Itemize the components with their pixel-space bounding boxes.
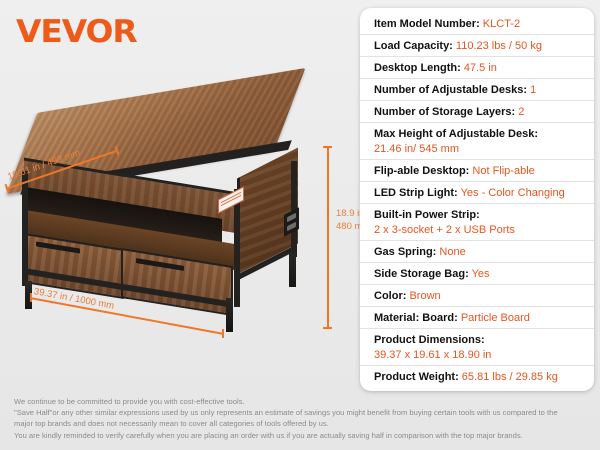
spec-row: Item Model Number: KLCT-2 <box>360 13 594 35</box>
spec-label: Side Storage Bag: <box>374 268 469 280</box>
spec-row: LED Strip Light: Yes - Color Changing <box>360 182 594 204</box>
disclaimer-line-3: major top brands and does not necessaril… <box>14 418 592 429</box>
page-root: VEVOR <box>0 0 600 450</box>
spec-value: 110.23 lbs / 50 kg <box>456 40 542 52</box>
vevor-logo: VEVOR <box>16 14 137 50</box>
spec-label: Material: Board: <box>374 312 458 324</box>
spec-label: Color: <box>374 290 406 302</box>
spec-value: KLCT-2 <box>483 18 520 30</box>
spec-value: Yes <box>472 268 490 280</box>
spec-value: 1 <box>530 84 536 96</box>
spec-value: 2 <box>518 106 524 118</box>
spec-label: Item Model Number: <box>374 18 480 30</box>
spec-value: None <box>439 246 465 258</box>
power-socket <box>287 222 296 232</box>
disclaimer-line-4: You are kindly reminded to verify carefu… <box>14 430 592 441</box>
spec-row: Color: Brown <box>360 285 594 307</box>
specification-card: Item Model Number: KLCT-2Load Capacity: … <box>360 8 594 391</box>
spec-value: Yes - Color Changing <box>461 187 565 199</box>
spec-label: Built-in Power Strip: <box>374 209 480 221</box>
spec-row: Load Capacity: 110.23 lbs / 50 kg <box>360 35 594 57</box>
spec-row: Flip-able Desktop: Not Flip-able <box>360 160 594 182</box>
height-end-cap-bottom <box>323 327 332 329</box>
spec-row: Max Height of Adjustable Desk:21.46 in/ … <box>360 123 594 160</box>
spec-label: Number of Storage Layers: <box>374 106 515 118</box>
spec-value: 21.46 in/ 545 mm <box>374 142 583 156</box>
spec-value: Particle Board <box>461 312 530 324</box>
disclaimer-footer: We continue to be committed to provide y… <box>14 396 592 441</box>
spec-row: Product Dimensions:39.37 x 19.61 x 18.90… <box>360 329 594 366</box>
spec-label: Product Dimensions: <box>374 334 485 346</box>
product-image: 19.61 in / 498 mm <box>0 60 355 360</box>
spec-row: Number of Adjustable Desks: 1 <box>360 79 594 101</box>
spec-row: Material: Board: Particle Board <box>360 307 594 329</box>
spec-row: Gas Spring: None <box>360 241 594 263</box>
spec-label: Product Weight: <box>374 371 459 383</box>
spec-row: Built-in Power Strip:2 x 3-socket + 2 x … <box>360 204 594 241</box>
spec-row: Side Storage Bag: Yes <box>360 263 594 285</box>
disclaimer-line-2: "Save Half"or any other similar expressi… <box>14 407 592 418</box>
spec-row: Product Weight: 65.81 lbs / 29.85 kg <box>360 366 594 387</box>
leg-back-right <box>289 253 296 287</box>
spec-label: Flip-able Desktop: <box>374 165 469 177</box>
width-end-cap-left <box>30 293 32 302</box>
spec-value: Brown <box>409 290 440 302</box>
spec-value: Not Flip-able <box>472 165 534 177</box>
power-socket <box>287 213 296 223</box>
spec-label: Number of Adjustable Desks: <box>374 84 527 96</box>
spec-value: 47.5 in <box>464 62 497 74</box>
spec-row: Number of Storage Layers: 2 <box>360 101 594 123</box>
disclaimer-line-1: We continue to be committed to provide y… <box>14 396 592 407</box>
spec-label: Load Capacity: <box>374 40 453 52</box>
height-end-cap-top <box>323 146 332 148</box>
spec-label: Max Height of Adjustable Desk: <box>374 128 538 140</box>
width-end-cap-right <box>222 329 224 338</box>
spec-value: 39.37 x 19.61 x 18.90 in <box>374 348 583 362</box>
spec-label: Gas Spring: <box>374 246 436 258</box>
spec-label: LED Strip Light: <box>374 187 458 199</box>
height-dimension-line <box>327 146 329 328</box>
spec-row: Desktop Length: 47.5 in <box>360 57 594 79</box>
frame-post-front-right <box>234 189 240 307</box>
spec-label: Desktop Length: <box>374 62 461 74</box>
spec-value: 2 x 3-socket + 2 x USB Ports <box>374 223 583 237</box>
spec-value: 65.81 lbs / 29.85 kg <box>462 371 558 383</box>
leg-front-right <box>226 298 233 332</box>
